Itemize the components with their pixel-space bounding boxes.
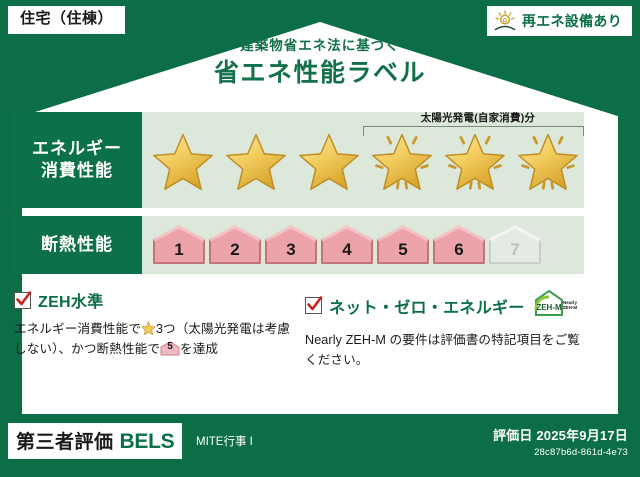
evaluation-uid: 28c87b6d-861d-4e73 — [493, 447, 628, 458]
renewable-energy-badge: D 再エネ設備あり — [487, 6, 632, 36]
title-subtitle: 建築物省エネ法に基づく — [0, 38, 640, 54]
zeh-m-logo-icon: ZEH-M Nearly ZEH-M — [532, 288, 578, 323]
building-type-tag: 住宅（住棟） — [8, 6, 125, 34]
insulation-level-7: 7 — [488, 225, 542, 265]
insulation-level-value: 2 — [230, 240, 239, 265]
zeh-text-part1: エネルギー消費性能で — [14, 322, 141, 336]
page-title: 省エネ性能ラベル — [0, 59, 640, 88]
energy-label-line1: エネルギー — [32, 138, 122, 160]
star-2 — [219, 112, 292, 208]
nze-criteria-column: ネット・ゼロ・エネルギー ZEH-M Nearly ZEH-M Nearly Z… — [305, 288, 582, 371]
solar-bracket-label: 太陽光発電(自家消費)分 — [363, 110, 593, 125]
sun-icon: D — [493, 10, 517, 32]
svg-text:ZEH-M: ZEH-M — [562, 305, 577, 310]
energy-performance-label: 住宅（住棟） D 再エネ設備あり 建築物省エネ法に基づく — [0, 0, 640, 477]
bels-tag: 第三者評価 BELS — [8, 423, 182, 459]
energy-label-line2: 消費性能 — [41, 160, 113, 182]
insulation-level-2: 2 — [208, 225, 262, 265]
insulation-level-6: 6 — [432, 225, 486, 265]
zeh-title: ZEH水準 — [38, 288, 104, 312]
bels-en-label: BELS — [120, 430, 175, 454]
insulation-level-1: 1 — [152, 225, 206, 265]
bels-jp-label: 第三者評価 — [16, 427, 114, 454]
title-block: 建築物省エネ法に基づく 省エネ性能ラベル — [0, 38, 640, 88]
star-1 — [146, 112, 219, 208]
evaluation-date: 評価日 2025年9月17日 — [493, 425, 628, 444]
solar-bracket — [363, 126, 584, 136]
insulation-performance-row: 断熱性能 1234567 — [12, 216, 584, 274]
insulation-badge-icon: 5 — [160, 341, 180, 356]
energy-performance-row: エネルギー 消費性能 太陽光発電(自家消費)分 — [12, 112, 584, 208]
insulation-level-value: 4 — [342, 240, 351, 265]
insulation-level-4: 4 — [320, 225, 374, 265]
insulation-level-5: 5 — [376, 225, 430, 265]
zeh-criteria-column: ZEH水準 エネルギー消費性能で3つ（太陽光発電は考慮しない）、かつ断熱性能で5… — [14, 288, 291, 371]
insulation-badge-value: 5 — [160, 341, 180, 356]
insulation-level-3: 3 — [264, 225, 318, 265]
criteria-columns: ZEH水準 エネルギー消費性能で3つ（太陽光発電は考慮しない）、かつ断熱性能で5… — [14, 288, 582, 371]
nze-title: ネット・ゼロ・エネルギー — [329, 294, 525, 318]
svg-text:ZEH-M: ZEH-M — [536, 303, 562, 312]
insulation-level-value: 5 — [398, 240, 407, 265]
check-icon — [14, 292, 31, 309]
energy-performance-label-cell: エネルギー 消費性能 — [12, 112, 142, 208]
zeh-text-part3: を達成 — [180, 342, 218, 356]
footer: 第三者評価 BELS MITE行事 I 評価日 2025年9月17日 28c87… — [0, 415, 640, 477]
insulation-label: 断熱性能 — [41, 234, 113, 256]
insulation-level-value: 1 — [174, 240, 183, 265]
insulation-performance-label-cell: 断熱性能 — [12, 216, 142, 274]
bels-subtext: MITE行事 I — [196, 433, 253, 449]
zeh-description: エネルギー消費性能で3つ（太陽光発電は考慮しない）、かつ断熱性能で5を達成 — [14, 319, 291, 360]
star-3 — [292, 112, 365, 208]
nze-heading: ネット・ゼロ・エネルギー ZEH-M Nearly ZEH-M — [305, 288, 582, 323]
insulation-level-list: 1234567 — [142, 225, 584, 265]
energy-stars-cell: 太陽光発電(自家消費)分 — [142, 112, 584, 208]
evaluation-info: 評価日 2025年9月17日 28c87b6d-861d-4e73 — [493, 425, 628, 458]
insulation-levels-cell: 1234567 — [142, 216, 584, 274]
nze-description: Nearly ZEH-M の要件は評価書の特記項目をご覧ください。 — [305, 330, 582, 371]
zeh-heading: ZEH水準 — [14, 288, 291, 312]
insulation-level-value: 3 — [286, 240, 295, 265]
svg-text:D: D — [503, 18, 508, 24]
insulation-level-value: 6 — [454, 240, 463, 265]
renewable-energy-badge-label: 再エネ設備あり — [522, 11, 622, 31]
check-icon — [305, 297, 322, 314]
star-icon — [141, 321, 156, 336]
insulation-level-value: 7 — [510, 240, 519, 265]
label-content: 建築物省エネ法に基づく 省エネ性能ラベル エネルギー 消費性能 太陽光発電(自家… — [0, 0, 640, 477]
